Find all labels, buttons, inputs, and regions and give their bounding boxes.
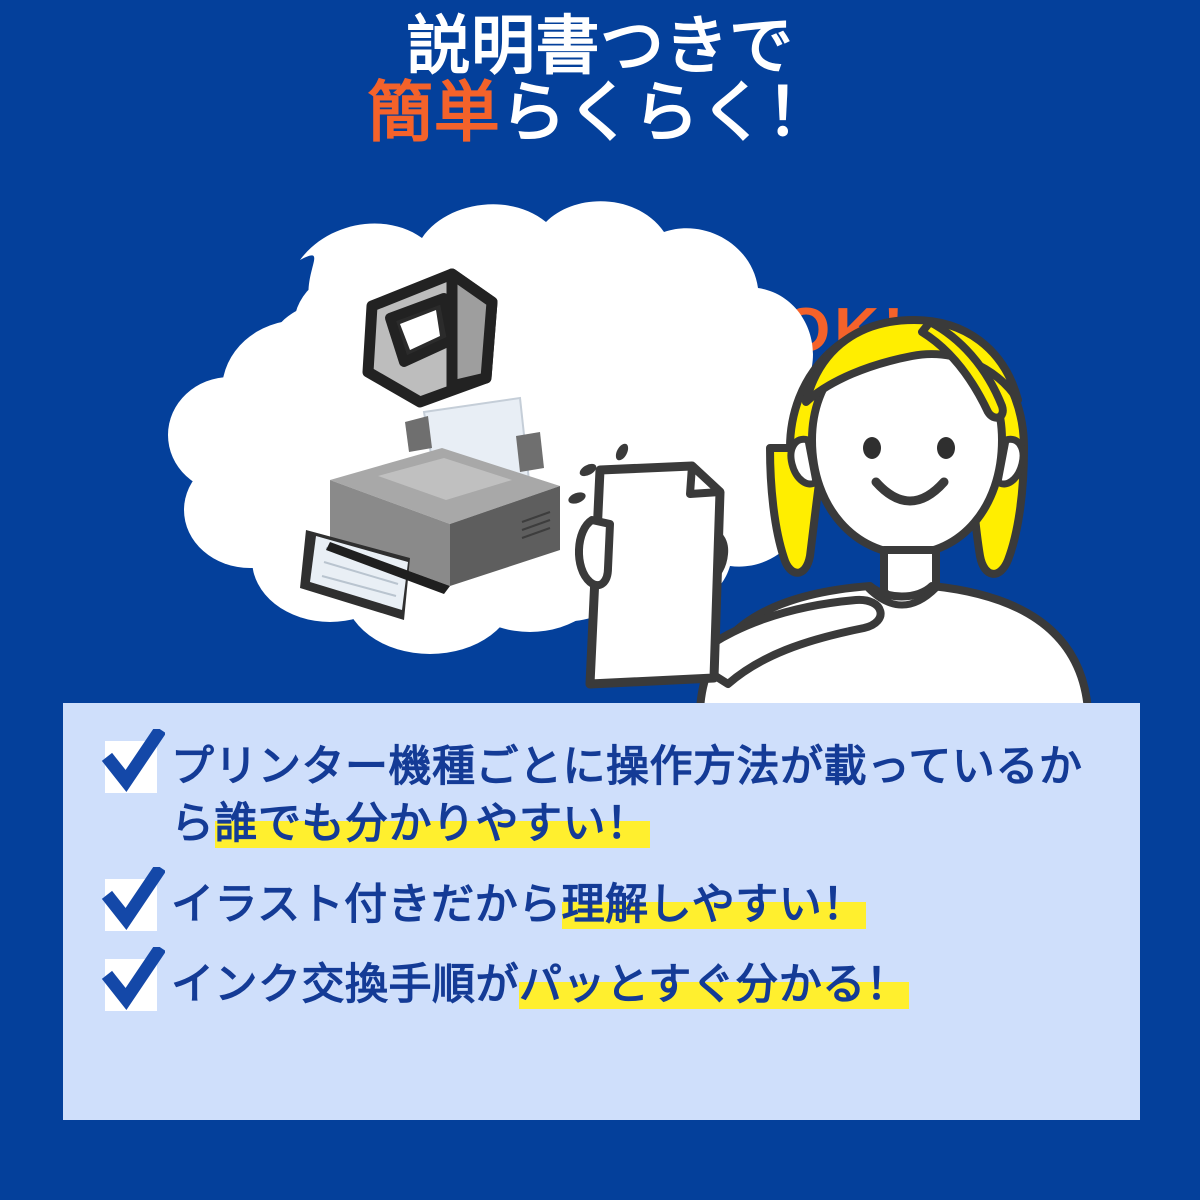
list-item: インク交換手順がパッとすぐ分かる！ bbox=[105, 955, 1122, 1014]
check-mark-icon bbox=[105, 741, 157, 793]
illustration-area bbox=[0, 190, 1200, 710]
benefits-panel: プリンター機種ごとに操作方法が載っているから誰でも分かりやすい！ イラスト付きだ… bbox=[63, 703, 1140, 1120]
headline: 説明書つきで 簡単らくらく！ bbox=[0, 14, 1200, 147]
list-item-text-highlight: 理解しやすい！ bbox=[562, 881, 866, 929]
list-item-text: インク交換手順がパッとすぐ分かる！ bbox=[171, 955, 909, 1014]
list-item-text: プリンター機種ごとに操作方法が載っているから誰でも分かりやすい！ bbox=[171, 737, 1122, 853]
list-item-text-highlight: 誰でも分かりやすい！ bbox=[215, 800, 650, 848]
benefits-list: プリンター機種ごとに操作方法が載っているから誰でも分かりやすい！ イラスト付きだ… bbox=[105, 737, 1122, 1014]
list-item-text-plain: イラスト付きだから bbox=[171, 881, 562, 929]
check-mark-icon bbox=[105, 879, 157, 931]
list-item: イラスト付きだから理解しやすい！ bbox=[105, 875, 1122, 934]
promo-poster: 説明書つきで 簡単らくらく！ OK! bbox=[0, 0, 1200, 1200]
headline-line-1: 説明書つきで bbox=[0, 14, 1200, 79]
headline-emphasis: 簡単 bbox=[367, 75, 500, 149]
headline-line-2: 簡単らくらく！ bbox=[0, 79, 1200, 146]
check-mark-icon bbox=[105, 959, 157, 1011]
headline-line-2-rest: らくらく！ bbox=[500, 75, 833, 149]
list-item-text: イラスト付きだから理解しやすい！ bbox=[171, 875, 866, 934]
list-item: プリンター機種ごとに操作方法が載っているから誰でも分かりやすい！ bbox=[105, 737, 1122, 853]
list-item-text-plain: インク交換手順が bbox=[171, 961, 519, 1009]
list-item-text-highlight: パッとすぐ分かる！ bbox=[519, 961, 909, 1009]
